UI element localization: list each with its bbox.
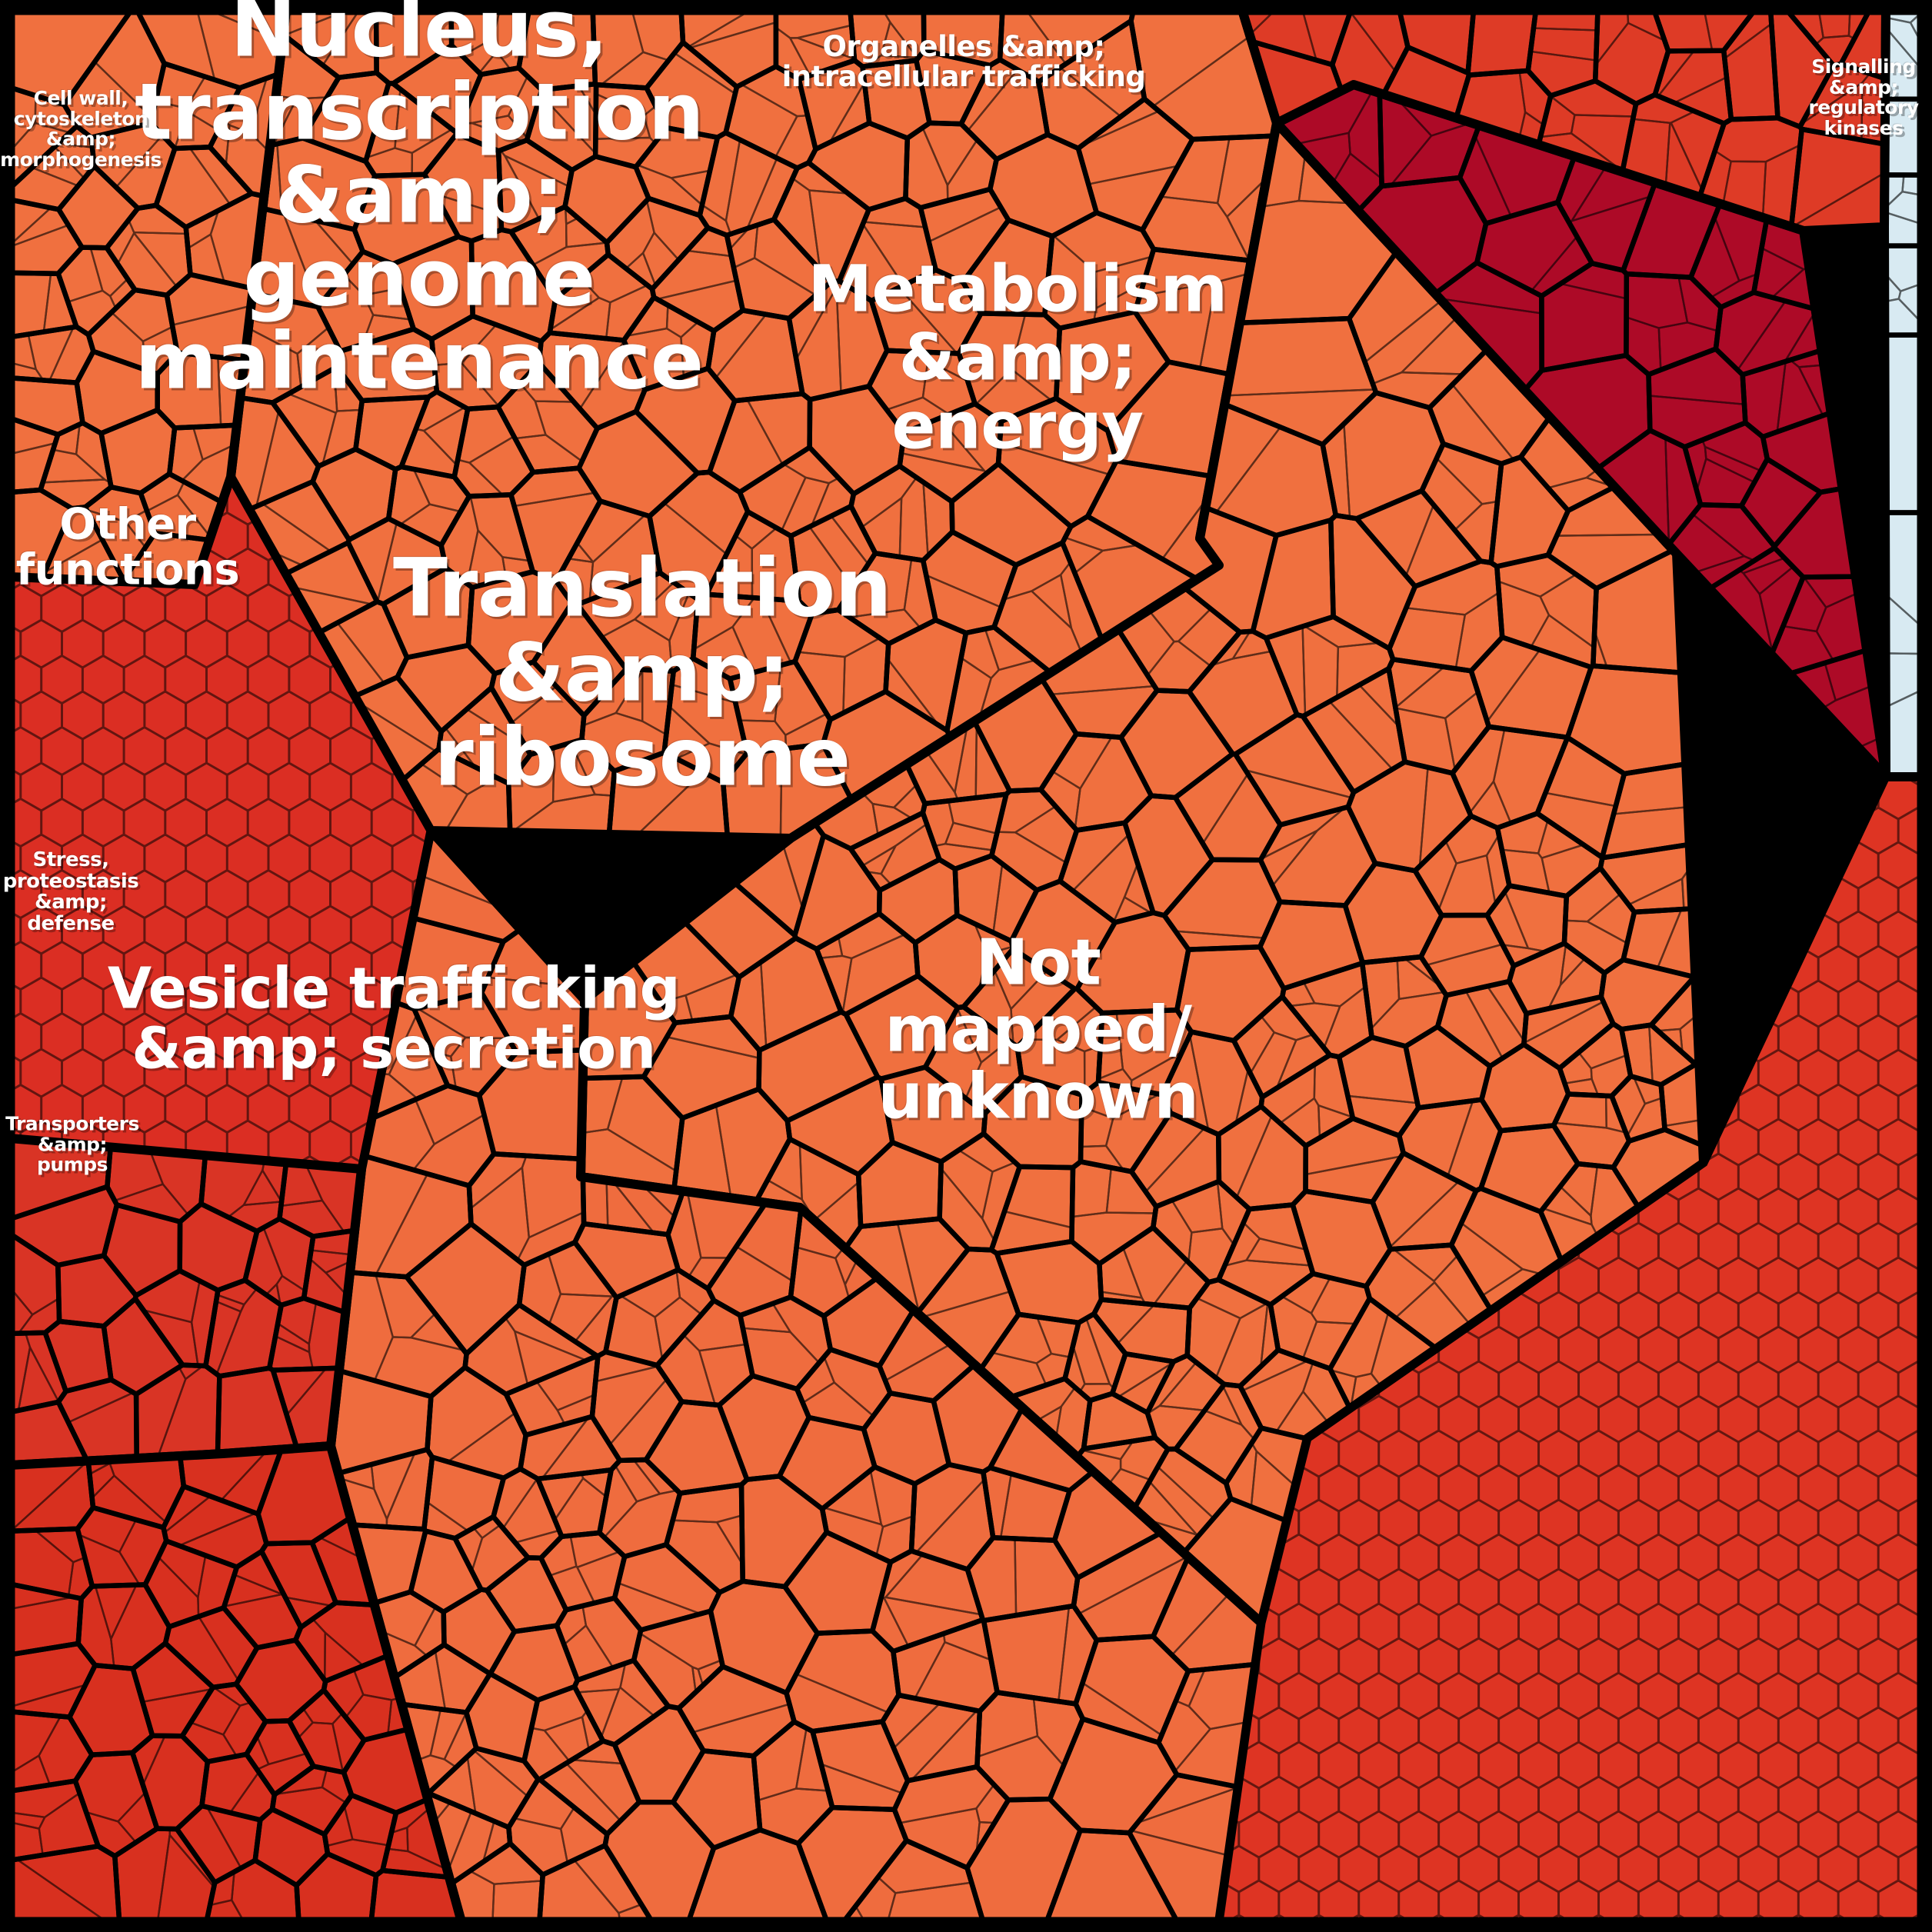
treemap-region-signalling-kinases[interactable] [1884,10,1922,777]
treemap-canvas[interactable] [0,0,1932,1932]
treemap-region-stress-proteostasis[interactable] [10,1138,361,1465]
voronoi-treemap-figure: Nucleus, transcription &amp; genome main… [0,0,1932,1932]
